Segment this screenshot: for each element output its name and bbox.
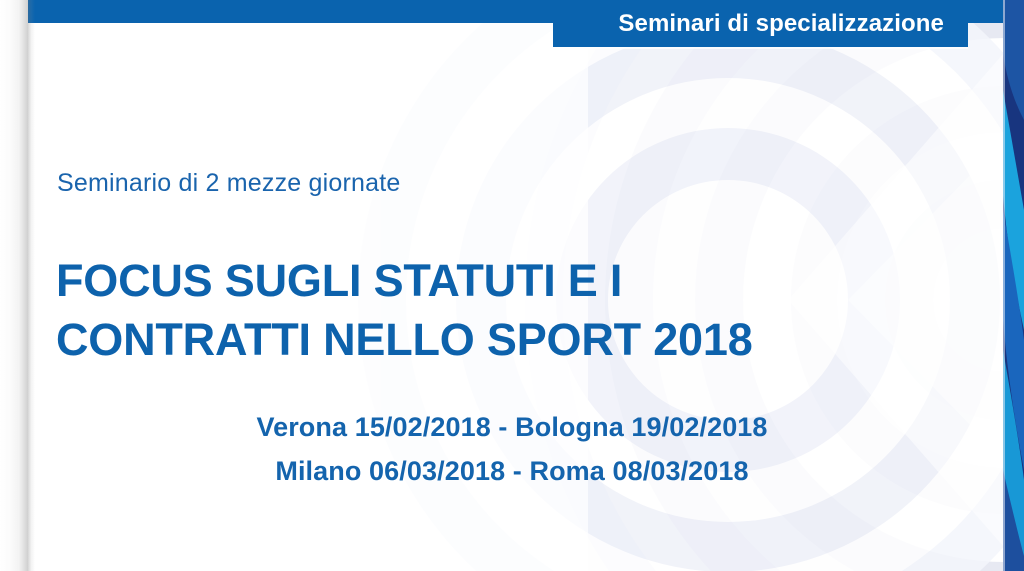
concentric-rings-artwork xyxy=(28,0,1024,571)
poster-canvas: Seminari di specializzazione Seminario d… xyxy=(0,0,1024,571)
right-strip-svg xyxy=(1003,0,1024,571)
page-edge-shadow xyxy=(28,0,35,571)
rings-svg xyxy=(28,0,1024,571)
rings-group xyxy=(28,0,1024,571)
right-accent-strip xyxy=(1003,0,1024,571)
header-band-underline xyxy=(553,47,968,49)
page-edge xyxy=(0,0,28,571)
header-band-label: Seminari di specializzazione xyxy=(618,12,944,36)
header-band: Seminari di specializzazione xyxy=(553,0,968,47)
